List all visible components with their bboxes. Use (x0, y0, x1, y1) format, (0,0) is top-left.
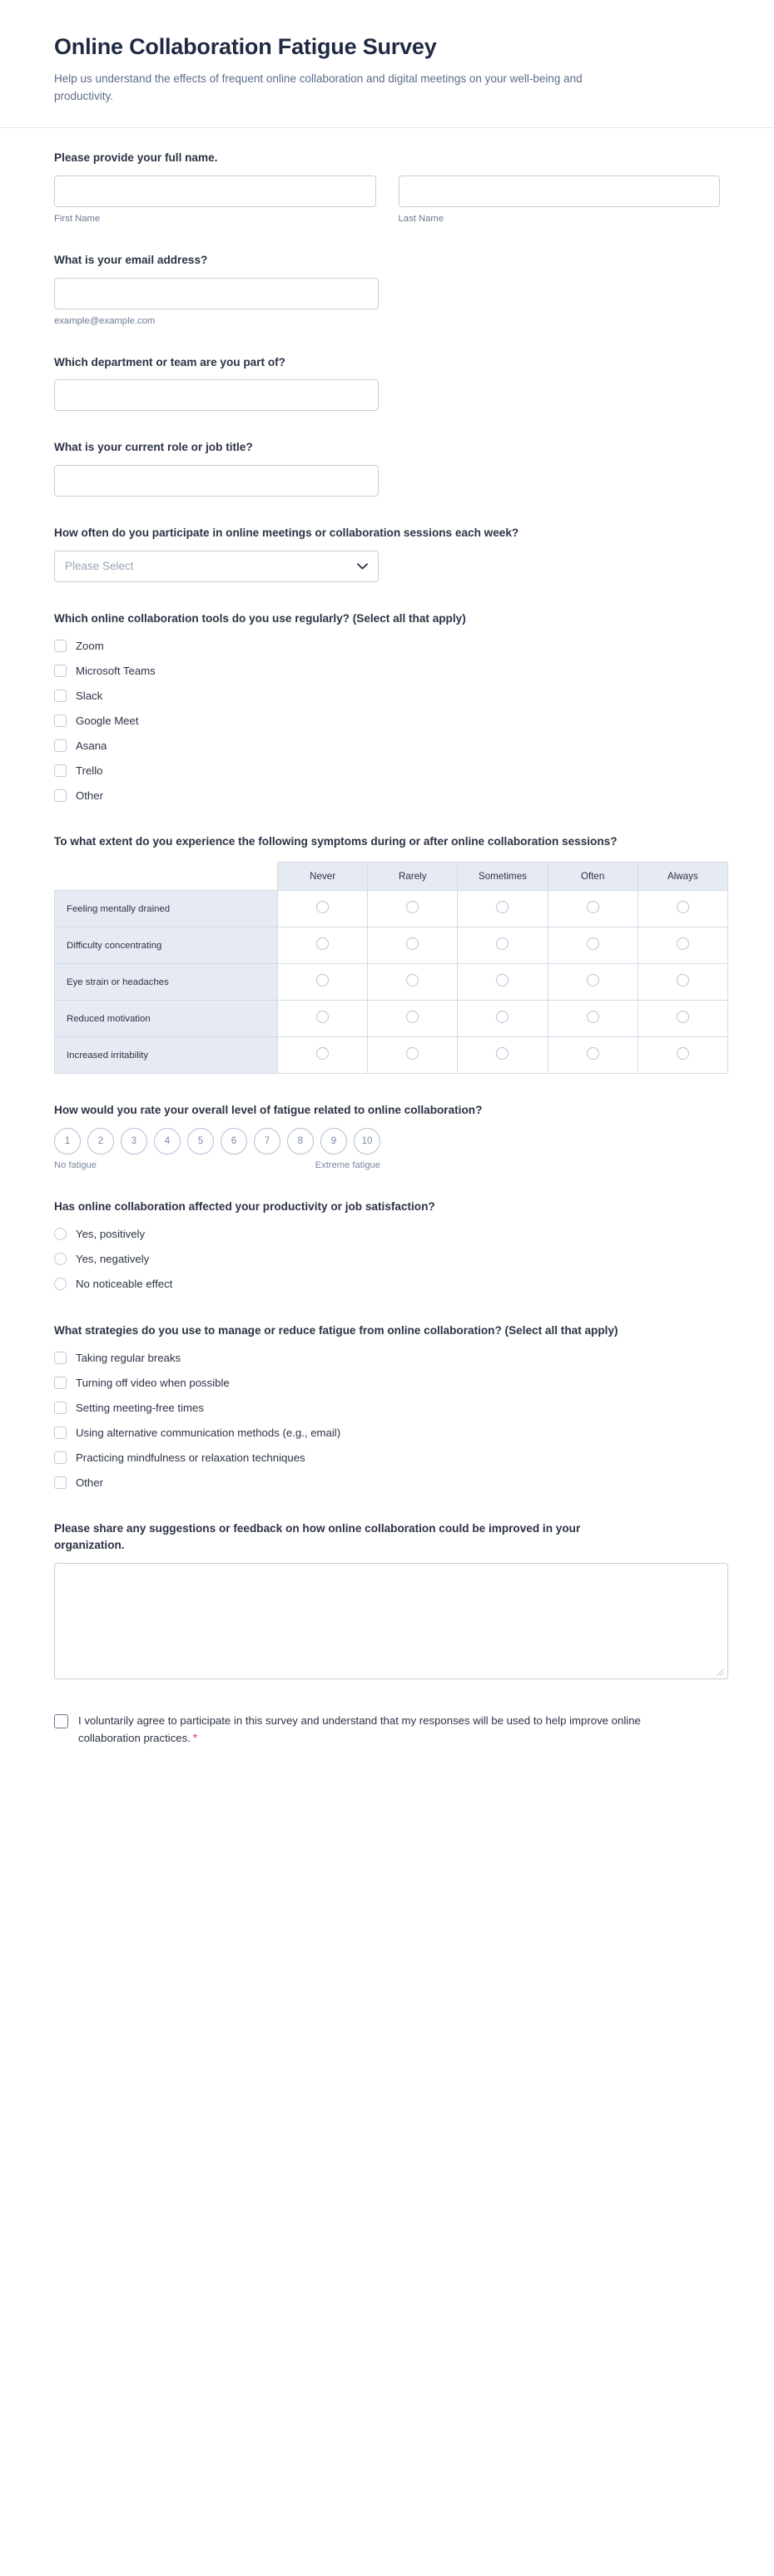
radio-icon[interactable] (316, 901, 329, 913)
radio-icon[interactable] (316, 1011, 329, 1023)
list-item[interactable]: No noticeable effect (54, 1274, 720, 1294)
matrix-radio-cell[interactable] (368, 891, 458, 927)
form-body: Please provide your full name. First Nam… (0, 128, 774, 1797)
page-subtitle: Help us understand the effects of freque… (54, 71, 628, 106)
matrix-radio-cell[interactable] (278, 1001, 368, 1037)
radio-icon[interactable] (316, 1047, 329, 1060)
radio-icon[interactable] (587, 937, 599, 950)
radio-icon[interactable] (587, 1047, 599, 1060)
frequency-select[interactable]: Please Select (54, 551, 379, 582)
option-label: Other (76, 789, 103, 803)
option-label: Slack (76, 689, 102, 703)
email-sublabel: example@example.com (54, 316, 379, 326)
matrix-radio-cell[interactable] (458, 891, 548, 927)
list-item[interactable]: Setting meeting-free times (54, 1397, 720, 1417)
checkbox-icon[interactable] (54, 665, 67, 677)
matrix-radio-cell[interactable] (278, 927, 368, 964)
checkbox-icon[interactable] (54, 640, 67, 652)
question-fatigue-rating: How would you rate your overall level of… (54, 1102, 720, 1170)
required-marker: * (193, 1731, 197, 1744)
option-label: Taking regular breaks (76, 1351, 181, 1365)
list-item[interactable]: Zoom (54, 635, 720, 655)
rating-option-2[interactable]: 2 (87, 1128, 114, 1155)
rating-option-4[interactable]: 4 (154, 1128, 181, 1155)
radio-icon[interactable] (406, 937, 419, 950)
radio-icon[interactable] (496, 937, 509, 950)
question-label: How often do you participate in online m… (54, 525, 628, 541)
matrix-row-label: Difficulty concentrating (55, 927, 278, 964)
question-label: What is your current role or job title? (54, 439, 628, 456)
radio-icon[interactable] (406, 974, 419, 986)
matrix-row-label: Eye strain or headaches (55, 964, 278, 1001)
list-item[interactable]: Microsoft Teams (54, 660, 720, 680)
matrix-radio-cell[interactable] (548, 1037, 638, 1074)
checkbox-icon[interactable] (54, 789, 67, 802)
matrix-table-wrapper: Never Rarely Sometimes Often Always Feel… (54, 862, 720, 1074)
option-label: Other (76, 1476, 103, 1490)
radio-icon[interactable] (316, 937, 329, 950)
matrix-header-row: Never Rarely Sometimes Often Always (55, 863, 728, 891)
radio-icon[interactable] (316, 974, 329, 986)
question-full-name: Please provide your full name. First Nam… (54, 150, 720, 224)
department-group (54, 379, 379, 411)
checkbox-icon[interactable] (54, 1377, 67, 1389)
rating-option-7[interactable]: 7 (254, 1128, 280, 1155)
question-label: Please provide your full name. (54, 150, 628, 166)
feedback-textarea[interactable] (54, 1563, 728, 1679)
form-header: Online Collaboration Fatigue Survey Help… (0, 0, 774, 127)
table-row: Difficulty concentrating (55, 927, 728, 964)
first-name-input[interactable] (54, 176, 376, 207)
matrix-radio-cell[interactable] (638, 927, 727, 964)
matrix-radio-cell[interactable] (458, 964, 548, 1001)
matrix-row-label: Reduced motivation (55, 1001, 278, 1037)
strategies-option-list: Taking regular breaks Turning off video … (54, 1347, 720, 1492)
question-feedback: Please share any suggestions or feedback… (54, 1520, 720, 1679)
option-label: Yes, positively (76, 1227, 145, 1241)
rating-scale: 1 2 3 4 5 6 7 8 9 10 (54, 1128, 720, 1155)
option-label: Practicing mindfulness or relaxation tec… (76, 1451, 305, 1465)
radio-icon[interactable] (496, 1047, 509, 1060)
question-strategies: What strategies do you use to manage or … (54, 1323, 720, 1493)
matrix-radio-cell[interactable] (458, 1001, 548, 1037)
radio-icon[interactable] (406, 1011, 419, 1023)
option-label: No noticeable effect (76, 1277, 172, 1291)
matrix-radio-cell[interactable] (638, 1037, 727, 1074)
rating-option-1[interactable]: 1 (54, 1128, 81, 1155)
question-frequency: How often do you participate in online m… (54, 525, 720, 582)
option-label: Yes, negatively (76, 1252, 149, 1266)
option-label: Setting meeting-free times (76, 1401, 204, 1415)
checkbox-icon[interactable] (54, 1426, 67, 1439)
matrix-radio-cell[interactable] (638, 964, 727, 1001)
checkbox-icon[interactable] (54, 764, 67, 777)
checkbox-icon[interactable] (54, 1402, 67, 1414)
question-label: To what extent do you experience the fol… (54, 833, 628, 850)
tools-option-list: Zoom Microsoft Teams Slack Google Meet A… (54, 635, 720, 805)
matrix-column-header: Always (638, 863, 727, 891)
table-row: Feeling mentally drained (55, 891, 728, 927)
question-label: Please share any suggestions or feedback… (54, 1520, 628, 1553)
last-name-input[interactable] (399, 176, 721, 207)
checkbox-icon[interactable] (54, 739, 67, 752)
list-item[interactable]: Using alternative communication methods … (54, 1422, 720, 1442)
matrix-radio-cell[interactable] (548, 964, 638, 1001)
radio-icon[interactable] (587, 974, 599, 986)
question-label: What strategies do you use to manage or … (54, 1323, 628, 1339)
matrix-radio-cell[interactable] (278, 891, 368, 927)
question-label: Which department or team are you part of… (54, 354, 628, 371)
rating-option-10[interactable]: 10 (354, 1128, 380, 1155)
option-label: Trello (76, 764, 103, 778)
radio-icon[interactable] (496, 901, 509, 913)
matrix-radio-cell[interactable] (638, 891, 727, 927)
radio-icon[interactable] (677, 901, 689, 913)
checkbox-icon[interactable] (54, 1352, 67, 1364)
resize-handle-icon[interactable] (717, 1669, 724, 1676)
matrix-radio-cell[interactable] (548, 927, 638, 964)
list-item[interactable]: Turning off video when possible (54, 1372, 720, 1392)
matrix-radio-cell[interactable] (368, 964, 458, 1001)
question-tools: Which online collaboration tools do you … (54, 611, 720, 806)
rating-option-3[interactable]: 3 (121, 1128, 147, 1155)
matrix-corner-cell (55, 863, 278, 891)
name-fields-row: First Name Last Name (54, 176, 720, 224)
last-name-group: Last Name (399, 176, 721, 224)
radio-icon[interactable] (587, 901, 599, 913)
rating-option-6[interactable]: 6 (221, 1128, 247, 1155)
option-label: Google Meet (76, 714, 139, 728)
radio-icon[interactable] (406, 1047, 419, 1060)
radio-icon[interactable] (677, 1011, 689, 1023)
list-item[interactable]: Taking regular breaks (54, 1347, 720, 1367)
rating-option-9[interactable]: 9 (320, 1128, 347, 1155)
question-label: How would you rate your overall level of… (54, 1102, 628, 1119)
checkbox-icon[interactable] (54, 714, 67, 727)
matrix-row-label: Feeling mentally drained (55, 891, 278, 927)
rating-legend: No fatigue Extreme fatigue (54, 1160, 380, 1170)
matrix-radio-cell[interactable] (278, 964, 368, 1001)
checkbox-icon[interactable] (54, 1476, 67, 1489)
option-label: Using alternative communication methods … (76, 1426, 340, 1440)
chevron-down-icon (357, 559, 368, 574)
list-item[interactable]: Yes, negatively (54, 1249, 720, 1269)
radio-icon[interactable] (677, 1047, 689, 1060)
consent-label: I voluntarily agree to participate in th… (78, 1713, 661, 1748)
question-symptoms-matrix: To what extent do you experience the fol… (54, 833, 720, 1074)
consent-checkbox-icon[interactable] (54, 1714, 68, 1728)
role-input[interactable] (54, 465, 379, 497)
productivity-option-list: Yes, positively Yes, negatively No notic… (54, 1224, 720, 1294)
question-role: What is your current role or job title? (54, 439, 720, 497)
option-label: Microsoft Teams (76, 664, 156, 678)
list-item[interactable]: Trello (54, 760, 720, 780)
matrix-radio-cell[interactable] (638, 1001, 727, 1037)
list-item[interactable]: Other (54, 1472, 720, 1492)
radio-icon[interactable] (677, 937, 689, 950)
list-item[interactable]: Google Meet (54, 710, 720, 730)
option-label: Asana (76, 739, 107, 753)
list-item[interactable]: Slack (54, 685, 720, 705)
matrix-radio-cell[interactable] (368, 927, 458, 964)
table-row: Reduced motivation (55, 1001, 728, 1037)
matrix-column-header: Rarely (368, 863, 458, 891)
question-email: What is your email address? example@exam… (54, 252, 720, 326)
radio-icon[interactable] (496, 974, 509, 986)
question-department: Which department or team are you part of… (54, 354, 720, 412)
matrix-column-header: Often (548, 863, 638, 891)
checkbox-icon[interactable] (54, 1451, 67, 1464)
matrix-column-header: Never (278, 863, 368, 891)
radio-icon[interactable] (496, 1011, 509, 1023)
rating-option-5[interactable]: 5 (187, 1128, 214, 1155)
role-group (54, 465, 379, 497)
list-item[interactable]: Other (54, 785, 720, 805)
list-item[interactable]: Yes, positively (54, 1224, 720, 1244)
symptoms-matrix-table: Never Rarely Sometimes Often Always Feel… (54, 862, 728, 1074)
list-item[interactable]: Practicing mindfulness or relaxation tec… (54, 1447, 720, 1467)
email-group: example@example.com (54, 278, 379, 326)
frequency-select-value: Please Select (65, 560, 134, 572)
table-row: Increased irritability (55, 1037, 728, 1074)
last-name-sublabel: Last Name (399, 214, 721, 224)
radio-icon[interactable] (677, 974, 689, 986)
radio-icon[interactable] (406, 901, 419, 913)
table-row: Eye strain or headaches (55, 964, 728, 1001)
email-input[interactable] (54, 278, 379, 309)
question-label: Which online collaboration tools do you … (54, 611, 628, 627)
matrix-radio-cell[interactable] (548, 891, 638, 927)
matrix-radio-cell[interactable] (368, 1001, 458, 1037)
radio-icon[interactable] (54, 1278, 67, 1290)
matrix-row-label: Increased irritability (55, 1037, 278, 1074)
matrix-radio-cell[interactable] (548, 1001, 638, 1037)
radio-icon[interactable] (54, 1228, 67, 1240)
option-label: Turning off video when possible (76, 1376, 230, 1390)
rating-high-label: Extreme fatigue (315, 1160, 380, 1170)
rating-low-label: No fatigue (54, 1160, 97, 1170)
option-label: Zoom (76, 639, 104, 653)
matrix-column-header: Sometimes (458, 863, 548, 891)
radio-icon[interactable] (54, 1253, 67, 1265)
page-title: Online Collaboration Fatigue Survey (54, 33, 720, 60)
consent-text: I voluntarily agree to participate in th… (78, 1714, 641, 1744)
matrix-radio-cell[interactable] (368, 1037, 458, 1074)
matrix-radio-cell[interactable] (458, 927, 548, 964)
consent-block[interactable]: I voluntarily agree to participate in th… (54, 1713, 720, 1748)
department-input[interactable] (54, 379, 379, 411)
question-label: What is your email address? (54, 252, 628, 269)
matrix-radio-cell[interactable] (278, 1037, 368, 1074)
rating-option-8[interactable]: 8 (287, 1128, 314, 1155)
question-label: Has online collaboration affected your p… (54, 1199, 628, 1215)
question-productivity-effect: Has online collaboration affected your p… (54, 1199, 720, 1294)
matrix-radio-cell[interactable] (458, 1037, 548, 1074)
first-name-group: First Name (54, 176, 376, 224)
checkbox-icon[interactable] (54, 690, 67, 702)
first-name-sublabel: First Name (54, 214, 376, 224)
list-item[interactable]: Asana (54, 735, 720, 755)
radio-icon[interactable] (587, 1011, 599, 1023)
